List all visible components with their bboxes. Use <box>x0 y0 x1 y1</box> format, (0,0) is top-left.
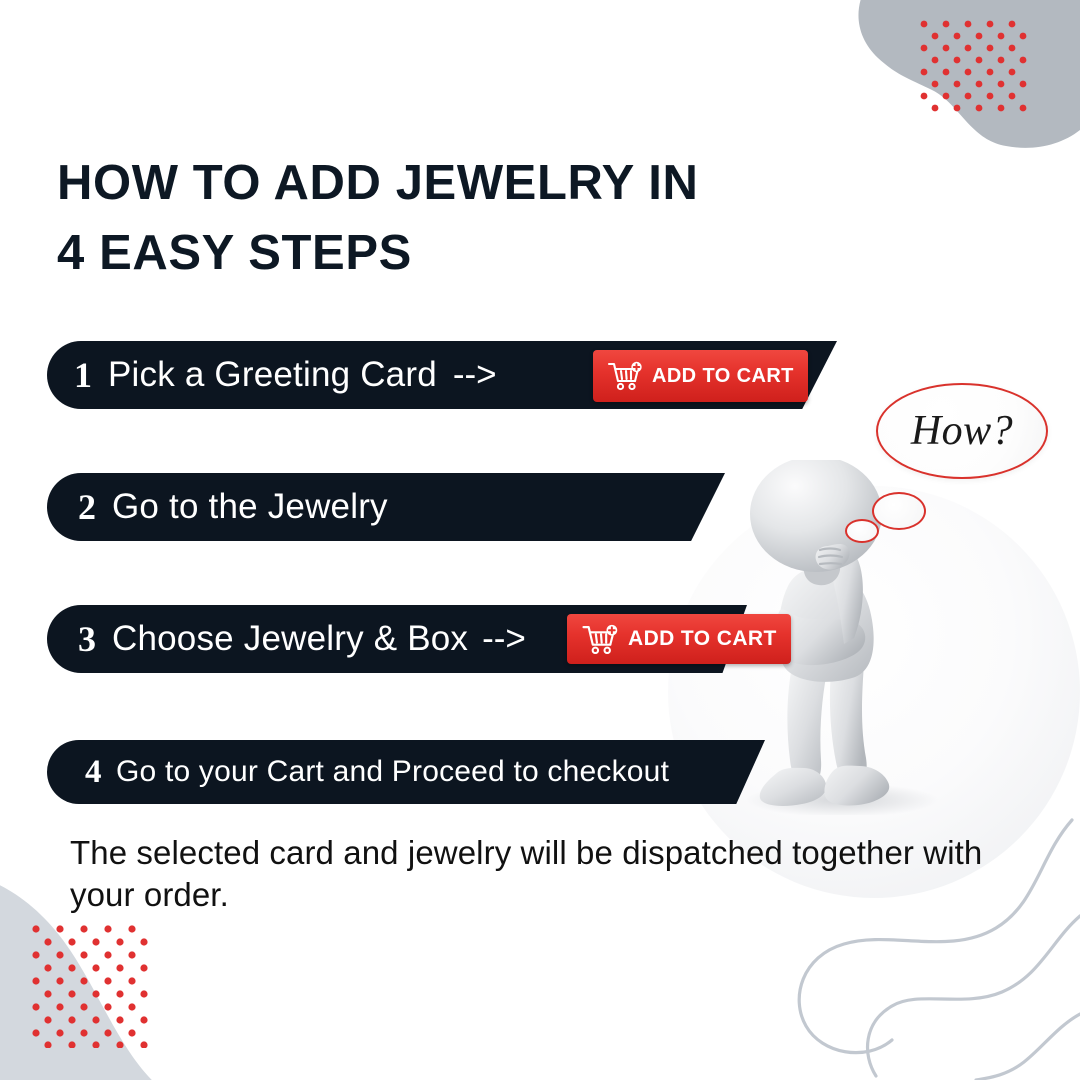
add-to-cart-button-1[interactable]: ADD TO CART <box>593 350 808 402</box>
infographic-canvas: HOW TO ADD JEWELRY IN 4 EASY STEPS 1 Pic… <box>0 0 1080 1080</box>
step-number-2: 2 <box>78 489 112 525</box>
step-arrow-3: --> <box>482 619 526 659</box>
add-to-cart-label-3: ADD TO CART <box>628 627 777 651</box>
shopping-cart-plus-icon <box>607 360 643 392</box>
step-banner-2[interactable]: 2 Go to the Jewelry <box>47 473 725 541</box>
step-label-2: Go to the Jewelry <box>112 487 388 527</box>
step-label-1: Pick a Greeting Card <box>108 355 437 395</box>
thought-bubble: How? <box>876 383 1048 479</box>
add-to-cart-button-3[interactable]: ADD TO CART <box>567 614 791 664</box>
thought-bubble-small-2 <box>845 519 879 543</box>
step-number-3: 3 <box>78 621 112 657</box>
add-to-cart-label-1: ADD TO CART <box>652 365 794 388</box>
thought-bubble-small-1 <box>872 492 926 530</box>
title-line-2: 4 EASY STEPS <box>57 218 877 288</box>
step-banner-4[interactable]: 4 Go to your Cart and Proceed to checkou… <box>47 740 765 804</box>
top-right-red-dot-grid <box>918 18 1038 118</box>
step-label-4: Go to your Cart and Proceed to checkout <box>116 755 669 789</box>
bottom-left-red-dot-grid <box>30 923 170 1048</box>
step-number-4: 4 <box>85 756 116 789</box>
footer-note: The selected card and jewelry will be di… <box>70 832 990 916</box>
page-title: HOW TO ADD JEWELRY IN 4 EASY STEPS <box>57 148 877 288</box>
step-label-3: Choose Jewelry & Box <box>112 619 468 659</box>
step-number-1: 1 <box>74 357 108 393</box>
thought-bubble-text: How? <box>911 407 1013 455</box>
shopping-cart-plus-icon <box>581 623 619 656</box>
title-line-1: HOW TO ADD JEWELRY IN <box>57 148 877 218</box>
step-arrow-1: --> <box>453 355 497 395</box>
top-right-gray-blob <box>820 0 1080 160</box>
